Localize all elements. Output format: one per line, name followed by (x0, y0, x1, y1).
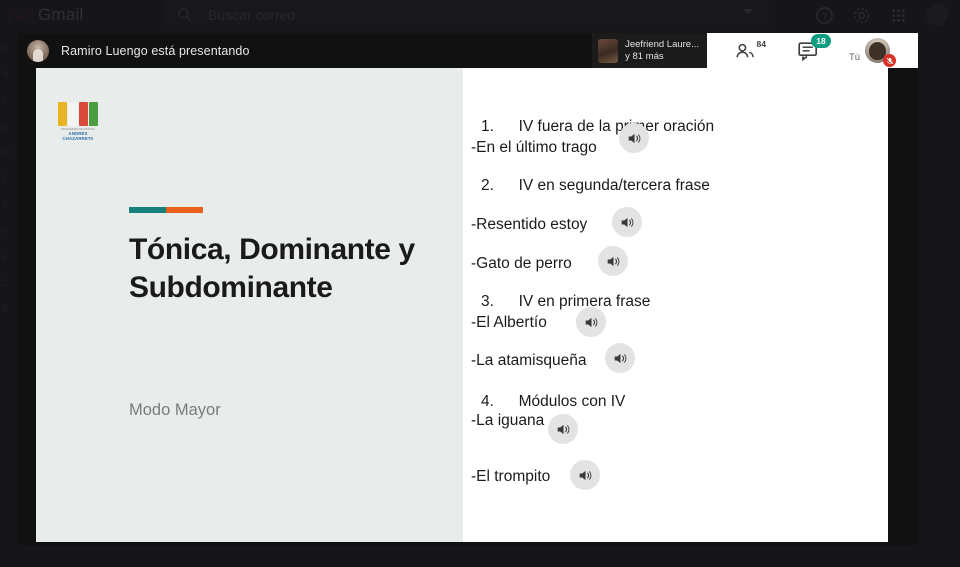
list-item: 3. IV en primera frase (481, 294, 650, 310)
list-item-text: -El trompito (471, 468, 550, 485)
list-item-text: -Resentido estoy (471, 216, 587, 233)
list-item-number: 3. (481, 293, 494, 310)
list-item-number: 2. (481, 177, 494, 194)
slide-title: Tónica, Dominante y Subdominante (129, 231, 449, 308)
list-item-text: -En el último trago (471, 139, 597, 156)
logo-bars (58, 102, 98, 126)
list-item: -La atamisqueña (471, 353, 586, 369)
list-item: -El Albertío (471, 315, 547, 331)
chat-unread-badge: 18 (811, 34, 831, 48)
accent-bar (129, 207, 203, 213)
participant-overflow-count: y 81 más (625, 51, 699, 62)
logo-line-2: ANDRÉS CHAZARRETA (58, 131, 98, 141)
speaker-volume-icon[interactable] (576, 307, 606, 337)
list-item-text: IV en segunda/tercera frase (519, 177, 710, 194)
slide-title-panel: PROGRAMA DE MÚSICA ANDRÉS CHAZARRETA Tón… (36, 68, 463, 542)
list-item-text: -La atamisqueña (471, 352, 586, 369)
participants-chip[interactable]: Jeefriend Laure... y 81 más (592, 33, 707, 68)
speaker-volume-icon[interactable] (612, 207, 642, 237)
list-item-text: -La iguana (471, 412, 544, 429)
list-item-text: -El Albertío (471, 314, 547, 331)
participant-primary-name: Jeefriend Laure... (625, 39, 699, 50)
list-item-number: 1. (481, 118, 494, 135)
speaker-volume-icon[interactable] (570, 460, 600, 490)
list-item: -El trompito (471, 469, 550, 485)
participant-names: Jeefriend Laure... y 81 más (625, 39, 699, 61)
list-item-number: 4. (481, 393, 494, 410)
self-label: Tú (849, 52, 860, 63)
participant-count: 84 (757, 39, 766, 49)
meet-top-bar: Ramiro Luengo está presentando Jeefriend… (18, 33, 918, 68)
conservatorio-logo: PROGRAMA DE MÚSICA ANDRÉS CHAZARRETA (58, 102, 98, 141)
list-item-text: -Gato de perro (471, 255, 572, 272)
meet-presentation-window: Ramiro Luengo está presentando Jeefriend… (18, 33, 918, 545)
speaker-volume-icon[interactable] (619, 123, 649, 153)
speaker-volume-icon[interactable] (605, 343, 635, 373)
list-item-text: Módulos con IV (519, 393, 626, 410)
presenter-avatar (27, 40, 49, 62)
list-item: 2. IV en segunda/tercera frase (481, 178, 710, 194)
meet-controls: 84 18 Tú (707, 33, 918, 68)
list-item: -En el último trago (471, 140, 597, 156)
speaker-volume-icon[interactable] (548, 414, 578, 444)
presenter-status-text: Ramiro Luengo está presentando (61, 44, 250, 58)
list-item: -La iguana (471, 413, 544, 429)
list-item: 4. Módulos con IV (481, 394, 625, 410)
mic-off-icon (883, 54, 896, 67)
chat-icon[interactable]: 18 (797, 39, 823, 63)
self-avatar[interactable] (865, 38, 890, 63)
speaker-volume-icon[interactable] (598, 246, 628, 276)
people-icon[interactable]: 84 (731, 39, 761, 63)
slide-subtitle: Modo Mayor (129, 401, 221, 420)
participant-thumbnail (598, 39, 618, 63)
list-item: 1. IV fuera de la primer oración (481, 119, 714, 135)
list-item-text: IV fuera de la primer oración (519, 118, 715, 135)
presented-slide: PROGRAMA DE MÚSICA ANDRÉS CHAZARRETA Tón… (36, 68, 888, 542)
slide-content-panel: 1. IV fuera de la primer oración -En el … (463, 68, 888, 542)
list-item: -Resentido estoy (471, 217, 587, 233)
logo-text: PROGRAMA DE MÚSICA ANDRÉS CHAZARRETA (58, 128, 98, 141)
list-item: -Gato de perro (471, 256, 572, 272)
